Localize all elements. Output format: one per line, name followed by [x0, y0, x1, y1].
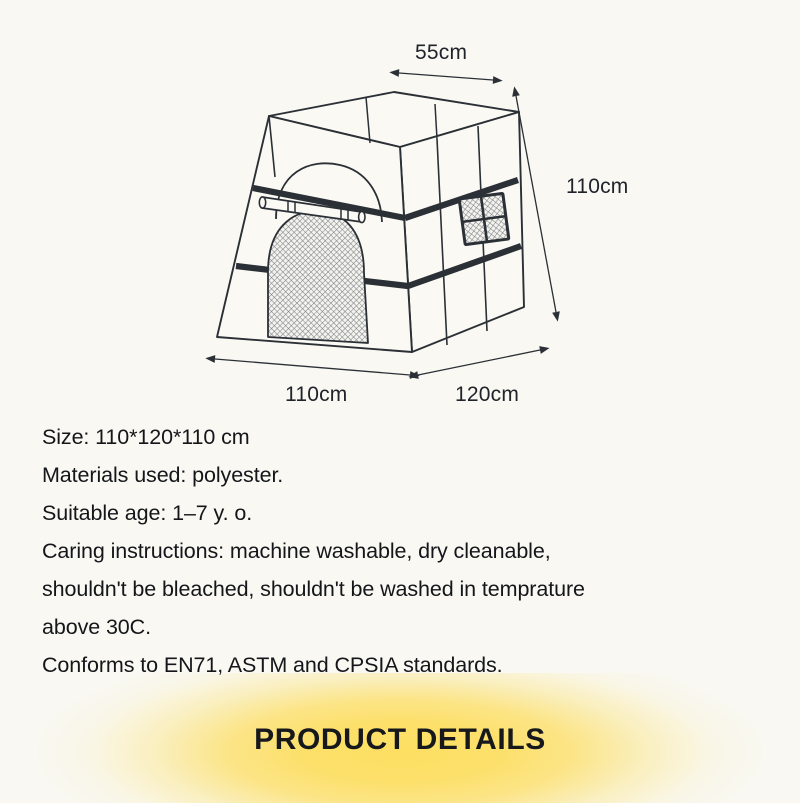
spec-line-materials: Materials used: polyester. — [42, 456, 768, 494]
spec-line-caring-1: Caring instructions: machine washable, d… — [42, 532, 768, 570]
spec-line-size: Size: 110*120*110 cm — [42, 418, 768, 456]
dimension-height: 110cm — [516, 96, 628, 312]
dimension-side-depth: 120cm — [418, 350, 540, 406]
spec-line-caring-3: above 30C. — [42, 608, 768, 646]
dimension-label-height: 110cm — [566, 175, 628, 198]
tent-dimension-diagram: 55cm — [0, 0, 800, 412]
product-details-banner: PRODUCT DETAILS — [0, 673, 800, 803]
dimension-label-front-width: 110cm — [285, 383, 347, 406]
mesh-door — [268, 211, 368, 343]
product-spec-list: Size: 110*120*110 cm Materials used: pol… — [42, 418, 768, 684]
spec-line-caring-2: shouldn't be bleached, shouldn't be wash… — [42, 570, 768, 608]
product-detail-page: 55cm — [0, 0, 800, 803]
spec-line-age: Suitable age: 1–7 y. o. — [42, 494, 768, 532]
dimension-front-width: 110cm — [215, 359, 410, 406]
mesh-window — [459, 193, 509, 244]
dimension-label-top-width: 55cm — [415, 41, 467, 64]
banner-title: PRODUCT DETAILS — [0, 723, 800, 757]
dimension-top-width: 55cm — [399, 41, 493, 80]
dimension-label-side-depth: 120cm — [455, 383, 519, 406]
tent-illustration — [217, 92, 524, 352]
